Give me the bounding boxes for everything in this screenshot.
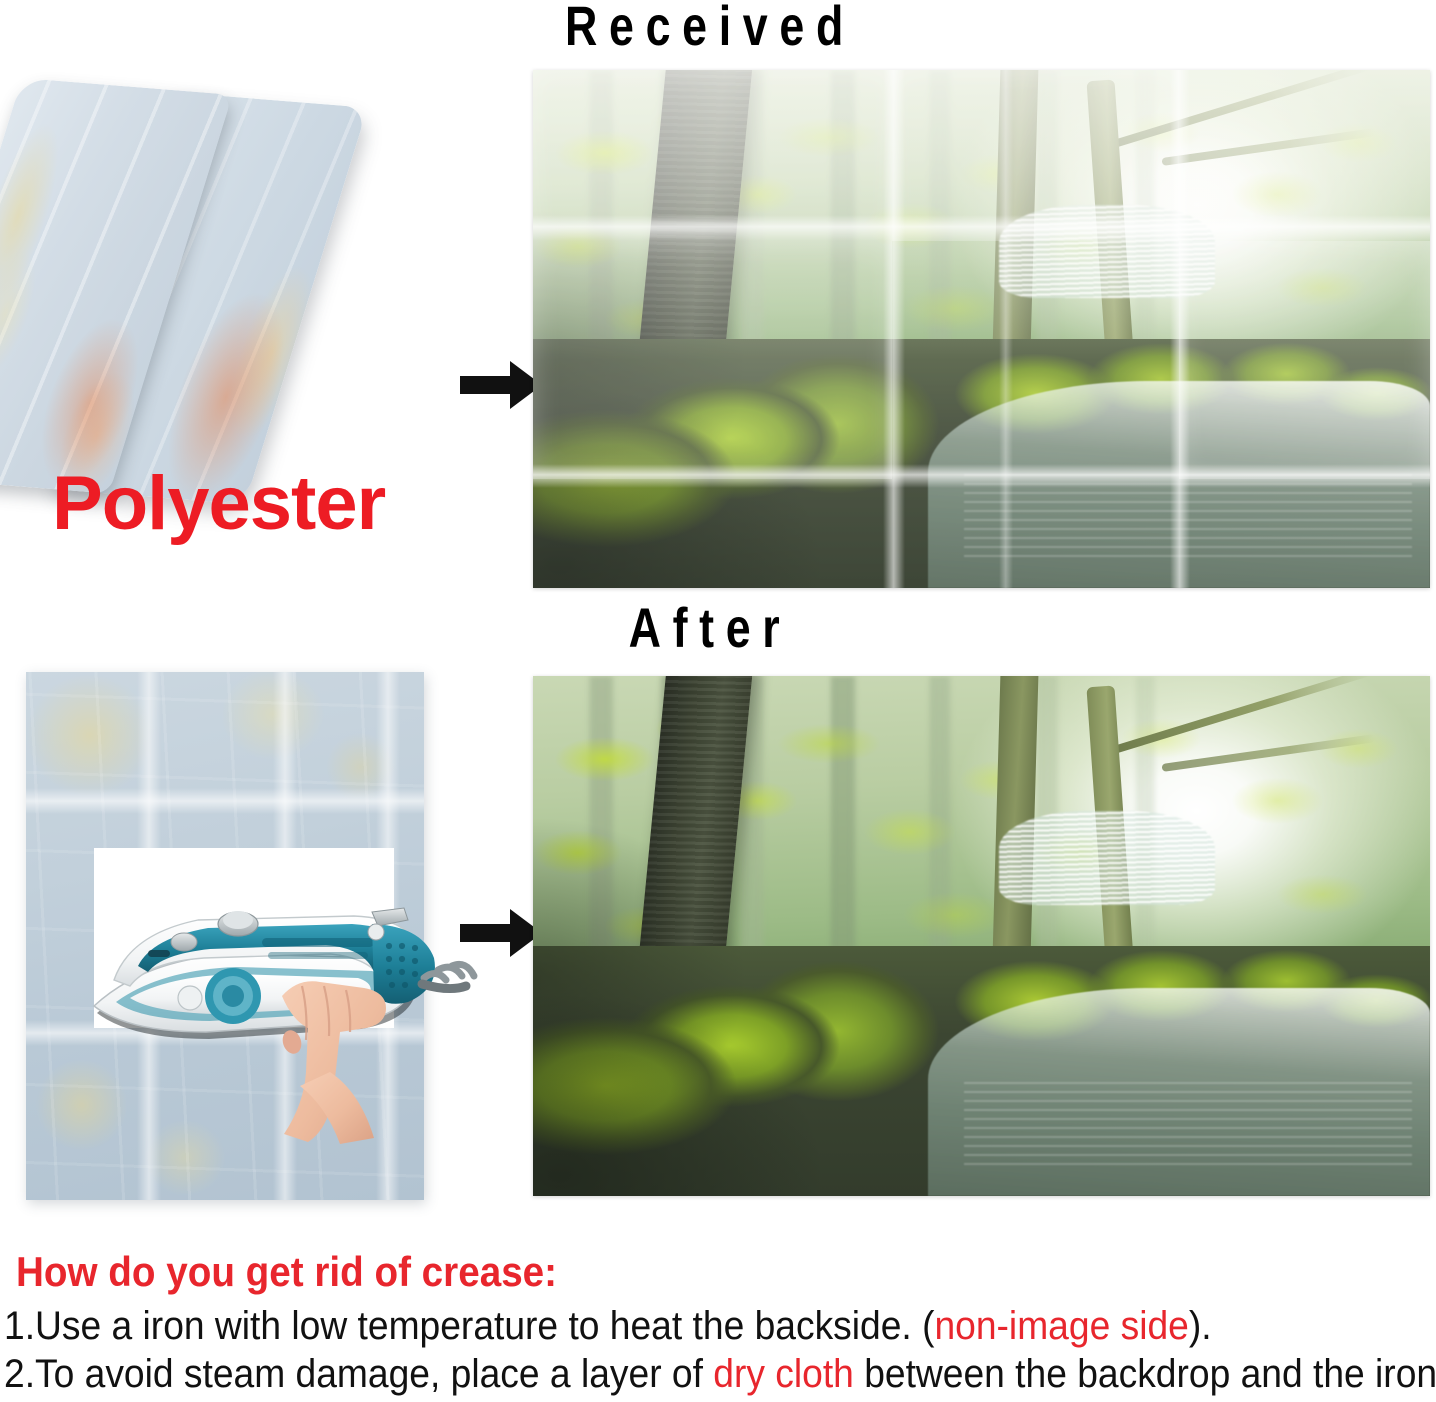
swatch-front-fold — [0, 78, 232, 494]
steam-iron-illustration — [86, 846, 466, 1146]
photo-received-creased — [533, 70, 1430, 588]
care-step-1: 1.Use a iron with low temperature to hea… — [4, 1304, 1212, 1349]
right-arrow-icon — [458, 905, 544, 961]
care-step-2-number: 2. — [4, 1352, 35, 1396]
care-step-2-tail: between the backdrop and the iron. — [854, 1352, 1436, 1396]
right-arrow-icon — [458, 357, 544, 413]
care-step-2-highlight: dry cloth — [713, 1352, 854, 1396]
section-title-after: After — [446, 598, 974, 658]
care-instructions-heading: How do you get rid of crease: — [16, 1248, 557, 1296]
photo-after-smooth — [533, 676, 1430, 1196]
folded-polyester-swatch — [22, 78, 422, 498]
backside-fold-horizontal — [26, 788, 424, 814]
care-step-2-text: To avoid steam damage, place a layer of — [35, 1352, 713, 1396]
material-label-polyester: Polyester — [52, 465, 385, 543]
care-step-1-highlight: non-image side — [934, 1304, 1188, 1348]
infographic-canvas: Received Polyester — [0, 0, 1436, 1402]
forest-scene-smooth — [533, 676, 1430, 1196]
care-step-1-text: Use a iron with low temperature to heat … — [35, 1304, 934, 1348]
scene-vignette — [533, 70, 1430, 588]
scene-vignette — [533, 676, 1430, 1196]
care-step-1-tail: ). — [1189, 1304, 1212, 1348]
section-title-received: Received — [406, 0, 1014, 56]
care-step-1-number: 1. — [4, 1304, 35, 1348]
care-step-2: 2.To avoid steam damage, place a layer o… — [4, 1352, 1436, 1397]
forest-scene-creased — [533, 70, 1430, 588]
